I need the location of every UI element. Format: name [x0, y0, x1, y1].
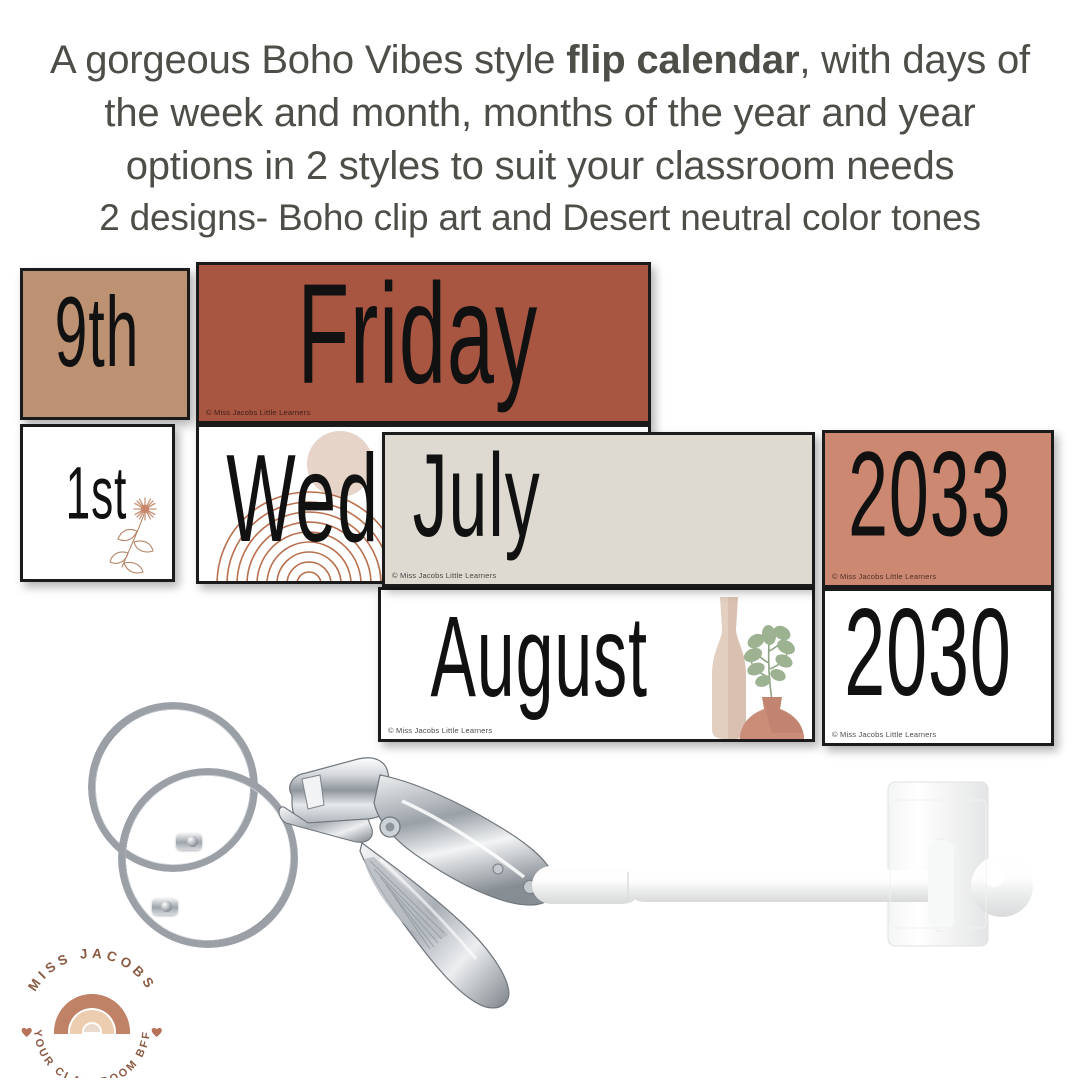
miss-jacobs-logo: MISS JACOBS YOUR CLASSROOM BFF [8, 928, 176, 1078]
calendar-card-month-july: July © Miss Jacobs Little Learners [382, 432, 815, 587]
calendar-card-date-9th: 9th [20, 268, 190, 420]
logo-top-text: MISS JACOBS [25, 946, 159, 994]
logo-bottom-text: YOUR CLASSROOM BFF [31, 1029, 153, 1078]
copyright-notice: © Miss Jacobs Little Learners [392, 571, 496, 580]
calendar-card-month-august: August [378, 587, 815, 742]
card-label: Friday [297, 262, 538, 417]
copyright-notice: © Miss Jacobs Little Learners [388, 726, 492, 735]
card-label: 2030 [844, 588, 1011, 724]
boho-rainbow-icon [54, 994, 130, 1034]
card-label: 1st [66, 452, 128, 537]
calendar-card-year-2033: 2033 © Miss Jacobs Little Learners [822, 430, 1054, 588]
svg-text:MISS JACOBS: MISS JACOBS [25, 946, 159, 994]
calendar-card-date-1st: 1st [20, 424, 175, 582]
vases-plant-icon [676, 589, 806, 739]
card-label: July [413, 432, 541, 564]
wall-hook-rod-icon [520, 760, 1060, 970]
product-graphic: A gorgeous Boho Vibes style flip calenda… [0, 0, 1080, 1080]
card-label: 9th [55, 275, 140, 390]
binder-ring-stud [187, 836, 198, 847]
binder-ring-stud [161, 901, 172, 912]
headline-text: A gorgeous Boho Vibes style flip calenda… [0, 34, 1080, 194]
copyright-notice: © Miss Jacobs Little Learners [206, 408, 310, 417]
copyright-notice: © Miss Jacobs Little Learners [832, 572, 936, 581]
card-label: August [430, 591, 647, 723]
card-label: 2033 [848, 430, 1011, 565]
svg-text:YOUR CLASSROOM BFF: YOUR CLASSROOM BFF [31, 1029, 153, 1078]
calendar-card-day-friday: Friday © Miss Jacobs Little Learners [196, 262, 651, 424]
calendar-card-year-2030: 2030 © Miss Jacobs Little Learners [822, 588, 1054, 746]
subline-text: 2 designs- Boho clip art and Desert neut… [0, 194, 1080, 242]
headline-emphasis: flip calendar [566, 38, 799, 82]
copyright-notice: © Miss Jacobs Little Learners [832, 730, 936, 739]
headline-part1: A gorgeous Boho Vibes style [50, 38, 566, 82]
